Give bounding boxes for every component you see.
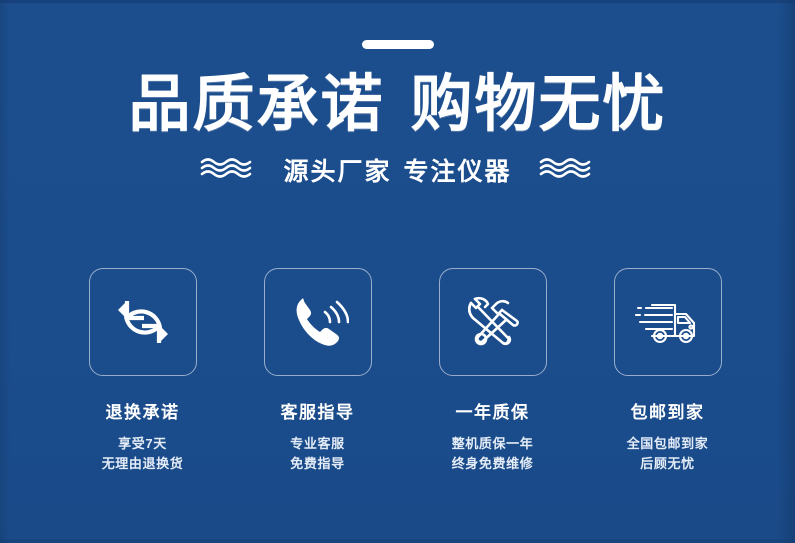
feature-line-2: 后顾无忧 (627, 454, 709, 474)
feature-card-exchange[interactable]: 退换承诺 享受7天 无理由退换货 (60, 268, 225, 474)
feature-line-2: 终身免费维修 (452, 454, 534, 474)
icon-frame (264, 268, 372, 376)
exchange-refresh-icon (112, 291, 174, 353)
top-divider-bar (362, 40, 434, 49)
feature-description: 整机质保一年 终身免费维修 (452, 434, 534, 474)
feature-card-list: 退换承诺 享受7天 无理由退换货 (60, 268, 750, 474)
page-subtitle: 源头厂家专注仪器 (283, 152, 511, 188)
bottom-edge-strip (0, 539, 795, 543)
icon-frame (89, 268, 197, 376)
feature-card-shipping[interactable]: 包邮到家 全国包邮到家 后顾无忧 (585, 268, 750, 474)
feature-line-2: 免费指导 (290, 454, 344, 474)
top-edge-strip (0, 0, 795, 3)
subtitle-row: 源头厂家专注仪器 (0, 152, 795, 188)
feature-card-warranty[interactable]: 一年质保 整机质保一年 终身免费维修 (410, 268, 575, 474)
feature-line-2: 无理由退换货 (102, 454, 184, 474)
wrench-hammer-icon (462, 291, 524, 353)
icon-frame (439, 268, 547, 376)
subtitle-part-1: 源头厂家 (283, 158, 391, 186)
phone-call-icon (287, 291, 349, 353)
feature-card-support[interactable]: 客服指导 专业客服 免费指导 (235, 268, 400, 474)
feature-description: 全国包邮到家 后顾无忧 (627, 434, 709, 474)
feature-title: 包邮到家 (631, 398, 705, 423)
feature-line-1: 享受7天 (102, 434, 184, 454)
feature-description: 享受7天 无理由退换货 (102, 434, 184, 474)
feature-line-1: 全国包邮到家 (627, 434, 709, 454)
icon-frame (614, 268, 722, 376)
feature-description: 专业客服 免费指导 (290, 434, 344, 474)
feature-title: 客服指导 (281, 398, 355, 423)
subtitle-part-2: 专注仪器 (404, 158, 512, 186)
feature-title: 退换承诺 (106, 398, 180, 423)
wave-right-icon (538, 155, 596, 186)
delivery-truck-icon (634, 294, 702, 350)
promo-banner: 品质承诺购物无忧 源头厂家专注仪器 (0, 0, 795, 543)
page-title: 品质承诺购物无忧 (0, 72, 795, 137)
headline-part-2: 购物无忧 (411, 70, 667, 139)
headline-part-1: 品质承诺 (128, 70, 384, 139)
feature-title: 一年质保 (456, 398, 530, 423)
wave-left-icon (199, 155, 257, 186)
feature-line-1: 专业客服 (290, 434, 344, 454)
feature-line-1: 整机质保一年 (452, 434, 534, 454)
